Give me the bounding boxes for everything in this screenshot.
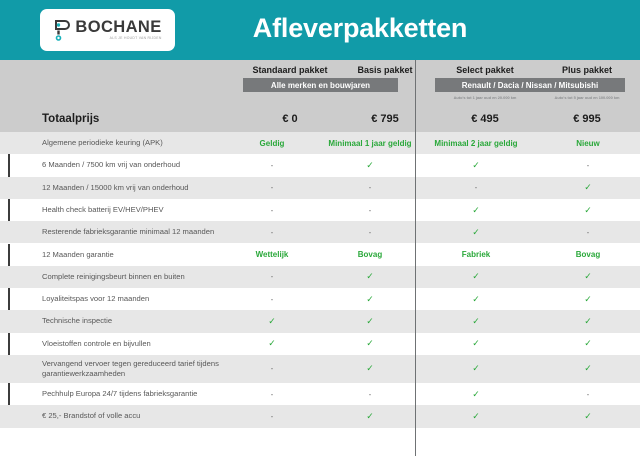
feature-value-col1: - [220,272,324,281]
feature-value-col2: ✓ [324,363,416,374]
feature-value-col4: ✓ [536,363,640,374]
feature-label: 12 Maanden / 15000 km vrij van onderhoud [0,183,220,193]
dash-icon: - [271,412,274,421]
value-text: Bovag [576,250,600,259]
feature-value-col1: - [220,206,324,215]
value-text: Wettelijk [256,250,289,259]
column-subnote-plus: Auto's tot 5 jaar oud en 100.000 km [532,95,640,100]
feature-label: Vloeistoffen controle en bijvullen [0,339,220,349]
feature-value-col4: ✓ [536,182,640,193]
dash-icon: - [475,183,478,192]
dash-icon: - [271,272,274,281]
table-row: Health check batterij EV/HEV/PHEV--✓✓ [0,199,640,221]
check-icon: ✓ [584,363,592,373]
feature-value-col3: ✓ [416,338,536,349]
column-price: € 495 [430,113,540,125]
feature-value-col3: ✓ [416,294,536,305]
row-tick-mark [8,383,10,405]
column-price: € 995 [532,113,640,125]
dash-icon: - [271,295,274,304]
feature-value-col2: ✓ [324,338,416,349]
feature-value-col1: - [220,161,324,170]
check-icon: ✓ [584,411,592,421]
table-row: Vloeistoffen controle en bijvullen✓✓✓✓ [0,333,640,355]
feature-value-col4: ✓ [536,294,640,305]
feature-value-col4: ✓ [536,205,640,216]
dash-icon: - [587,161,590,170]
check-icon: ✓ [472,160,480,170]
feature-value-col2: ✓ [324,160,416,171]
feature-label: € 25,- Brandstof of volle accu [0,411,220,421]
check-icon: ✓ [472,294,480,304]
feature-value-col3: ✓ [416,160,536,171]
feature-value-col1: ✓ [220,316,324,327]
feature-value-col2: Bovag [324,250,416,259]
value-text: Fabriek [462,250,490,259]
dash-icon: - [271,206,274,215]
table-row: Vervangend vervoer tegen gereduceerd tar… [0,355,640,383]
table-row: Resterende fabrieksgarantie minimaal 12 … [0,221,640,243]
feature-value-col2: ✓ [324,411,416,422]
column-header-plus: Plus pakket € 995 [532,65,640,75]
dash-icon: - [271,364,274,373]
feature-label: 12 Maanden garantie [0,250,220,260]
value-text: Geldig [260,139,285,148]
feature-value-col2: Minimaal 1 jaar geldig [324,139,416,148]
feature-value-col3: Minimaal 2 jaar geldig [416,139,536,148]
feature-value-col4: - [536,228,640,237]
column-subnote-select: Auto's tot 1 jaar oud en 20.000 km [430,95,540,100]
feature-label: Vervangend vervoer tegen gereduceerd tar… [0,359,220,380]
check-icon: ✓ [472,227,480,237]
value-text: Nieuw [576,139,600,148]
check-icon: ✓ [366,411,374,421]
feature-label: Health check batterij EV/HEV/PHEV [0,205,220,215]
feature-label: Pechhulp Europa 24/7 tijdens fabrieksgar… [0,389,220,399]
feature-value-col1: - [220,228,324,237]
feature-value-col4: ✓ [536,338,640,349]
feature-value-col2: ✓ [324,271,416,282]
check-icon: ✓ [366,160,374,170]
column-header-standaard: Standaard pakket € 0 [235,65,345,75]
feature-value-col1: - [220,364,324,373]
badge-alle-merken: Alle merken en bouwjaren [243,78,398,92]
check-icon: ✓ [366,294,374,304]
feature-value-col3: ✓ [416,205,536,216]
dash-icon: - [587,228,590,237]
row-tick-mark [8,244,10,266]
dash-icon: - [587,390,590,399]
dash-icon: - [369,390,372,399]
column-name: Basis pakket [330,65,440,75]
feature-value-col1: - [220,412,324,421]
check-icon: ✓ [268,316,276,326]
check-icon: ✓ [268,338,276,348]
table-row: 12 Maanden / 15000 km vrij van onderhoud… [0,177,640,199]
check-icon: ✓ [584,316,592,326]
feature-value-col1: Wettelijk [220,250,324,259]
check-icon: ✓ [366,271,374,281]
page-title: Afleverpakketten [0,13,640,44]
feature-value-col3: ✓ [416,316,536,327]
feature-value-col3: - [416,183,536,192]
value-text: Minimaal 1 jaar geldig [328,139,411,148]
feature-value-col2: ✓ [324,294,416,305]
table-footer-space [0,428,640,456]
feature-value-col4: ✓ [536,411,640,422]
check-icon: ✓ [584,205,592,215]
feature-value-col3: ✓ [416,363,536,374]
feature-value-col1: - [220,390,324,399]
feature-value-col1: ✓ [220,338,324,349]
feature-value-col1: - [220,183,324,192]
check-icon: ✓ [472,389,480,399]
column-price: € 795 [330,113,440,125]
feature-value-col3: ✓ [416,227,536,238]
check-icon: ✓ [366,363,374,373]
feature-value-col2: - [324,183,416,192]
column-name: Select pakket [430,65,540,75]
feature-label: Complete reinigingsbeurt binnen en buite… [0,272,220,282]
feature-value-col4: - [536,161,640,170]
table-row: 6 Maanden / 7500 km vrij van onderhoud-✓… [0,154,640,176]
check-icon: ✓ [366,316,374,326]
value-text: Minimaal 2 jaar geldig [434,139,517,148]
row-tick-mark [8,288,10,310]
table-row: € 25,- Brandstof of volle accu-✓✓✓ [0,405,640,427]
afleverpakketten-page: BOCHANE ALS JE HOUDT VAN RIJDEN Afleverp… [0,0,640,453]
row-tick-mark [8,154,10,176]
dash-icon: - [369,183,372,192]
check-icon: ✓ [584,294,592,304]
check-icon: ✓ [472,316,480,326]
feature-value-col3: ✓ [416,411,536,422]
feature-value-col4: Nieuw [536,139,640,148]
dash-icon: - [369,228,372,237]
check-icon: ✓ [472,205,480,215]
feature-label: Algemene periodieke keuring (APK) [0,138,220,148]
dash-icon: - [271,183,274,192]
column-header-basis: Basis pakket € 795 [330,65,440,75]
feature-value-col2: - [324,206,416,215]
group-divider-table [415,132,416,428]
badge-renault-dacia-nissan-mitsubishi: Renault / Dacia / Nissan / Mitsubishi [435,78,625,92]
feature-value-col4: - [536,390,640,399]
totaalprijs-label: Totaalprijs [42,113,99,125]
dash-icon: - [271,390,274,399]
feature-value-col2: - [324,390,416,399]
feature-label: Technische inspectie [0,316,220,326]
feature-value-col4: Bovag [536,250,640,259]
column-name: Standaard pakket [235,65,345,75]
value-text: Bovag [358,250,382,259]
column-header-select: Select pakket € 495 [430,65,540,75]
feature-value-col3: ✓ [416,389,536,400]
check-icon: ✓ [584,338,592,348]
dash-icon: - [271,161,274,170]
group-divider-footer [415,428,416,456]
table-row: Pechhulp Europa 24/7 tijdens fabrieksgar… [0,383,640,405]
feature-value-col1: Geldig [220,139,324,148]
row-tick-mark [8,199,10,221]
feature-value-col1: - [220,295,324,304]
check-icon: ✓ [472,411,480,421]
row-tick-mark [8,333,10,355]
page-header: BOCHANE ALS JE HOUDT VAN RIJDEN Afleverp… [0,0,640,60]
check-icon: ✓ [472,338,480,348]
check-icon: ✓ [366,338,374,348]
feature-label: Loyaliteitspas voor 12 maanden [0,294,220,304]
feature-label: 6 Maanden / 7500 km vrij van onderhoud [0,160,220,170]
features-table: Algemene periodieke keuring (APK)GeldigM… [0,132,640,428]
column-name: Plus pakket [532,65,640,75]
check-icon: ✓ [584,271,592,281]
check-icon: ✓ [584,182,592,192]
feature-value-col3: ✓ [416,271,536,282]
table-row: Algemene periodieke keuring (APK)GeldigM… [0,132,640,154]
table-row: Loyaliteitspas voor 12 maanden-✓✓✓ [0,288,640,310]
feature-value-col4: ✓ [536,316,640,327]
pricing-header-band: Totaalprijs Standaard pakket € 0 Basis p… [0,60,640,132]
feature-label: Resterende fabrieksgarantie minimaal 12 … [0,227,220,237]
dash-icon: - [271,228,274,237]
feature-value-col4: ✓ [536,271,640,282]
table-row: 12 Maanden garantieWettelijkBovagFabriek… [0,243,640,265]
dash-icon: - [369,206,372,215]
feature-value-col2: ✓ [324,316,416,327]
table-row: Complete reinigingsbeurt binnen en buite… [0,266,640,288]
check-icon: ✓ [472,363,480,373]
feature-value-col3: Fabriek [416,250,536,259]
feature-value-col2: - [324,228,416,237]
table-row: Technische inspectie✓✓✓✓ [0,310,640,332]
column-price: € 0 [235,113,345,125]
check-icon: ✓ [472,271,480,281]
